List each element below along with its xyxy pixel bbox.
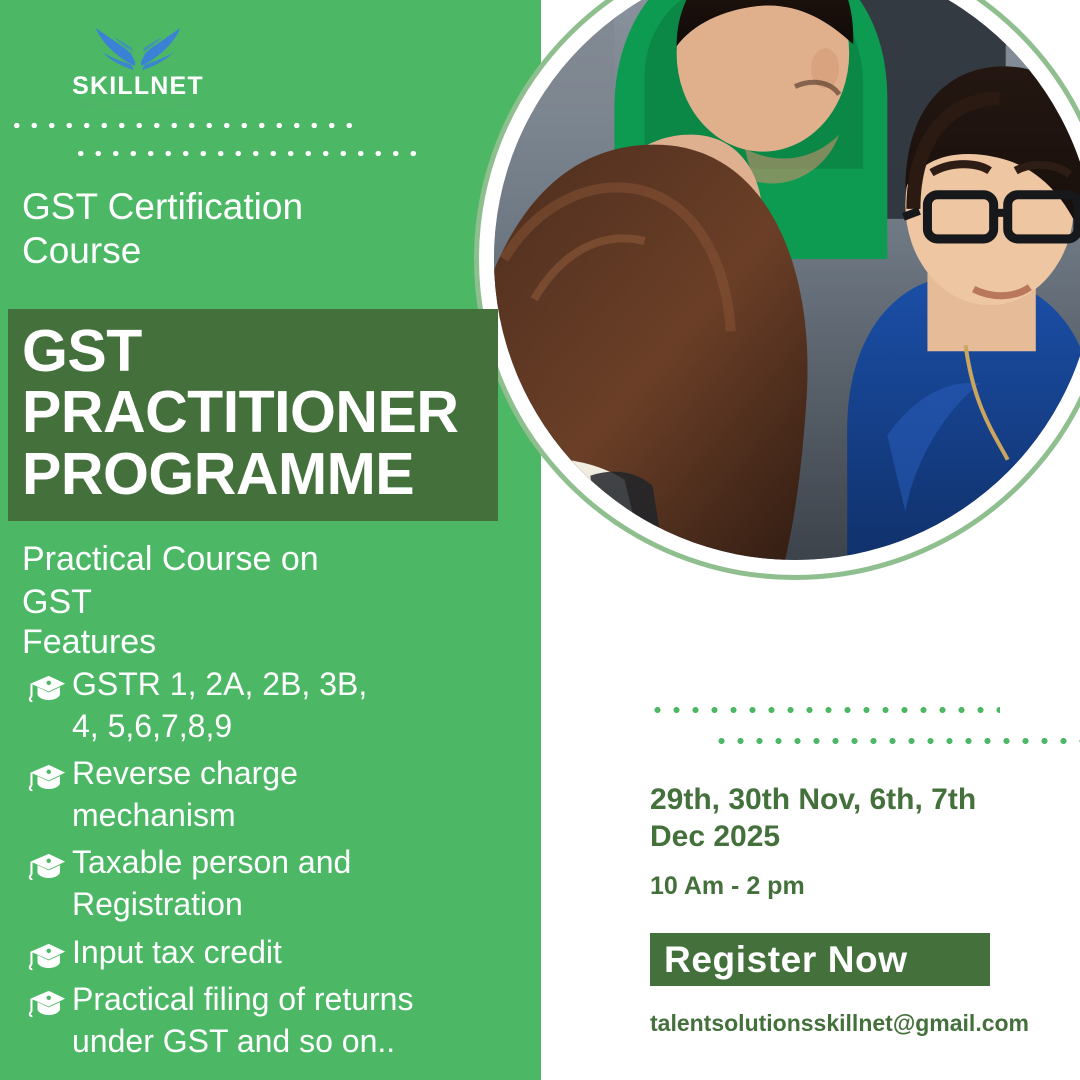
feature-text: Practical filing of returns under GST an… xyxy=(72,979,413,1062)
register-now-button[interactable]: Register Now xyxy=(650,933,990,986)
headline-block: GST PRACTITIONER PROGRAMME xyxy=(8,309,498,521)
headline-line-1: GST xyxy=(8,321,498,382)
three-people-studying-photo xyxy=(494,0,1080,560)
list-item: GSTR 1, 2A, 2B, 3B, 4, 5,6,7,8,9 xyxy=(28,664,528,747)
headline-line-3: PROGRAMME xyxy=(8,444,498,505)
list-item: Practical filing of returns under GST an… xyxy=(28,979,528,1062)
contact-email[interactable]: talentsolutionsskillnet@gmail.com xyxy=(650,1010,1029,1037)
graduation-cap-icon xyxy=(28,851,66,881)
graduation-cap-icon xyxy=(28,988,66,1018)
list-item: Reverse charge mechanism xyxy=(28,753,528,836)
dotted-divider-top-1 xyxy=(8,122,360,129)
feature-text: Taxable person and Registration xyxy=(72,842,351,925)
course-kicker: GST Certification Course xyxy=(22,185,482,272)
brand-logo: SKILLNET WE CREATE FUTURE xyxy=(48,26,228,110)
brand-tagline: WE CREATE FUTURE xyxy=(48,102,228,110)
graduation-cap-icon xyxy=(28,762,66,792)
photo-circle-inner xyxy=(494,0,1080,560)
gst-course-flyer: SKILLNET WE CREATE FUTURE GST Certificat… xyxy=(0,0,1080,1080)
feature-text: Input tax credit xyxy=(72,932,282,974)
feature-text: GSTR 1, 2A, 2B, 3B, 4, 5,6,7,8,9 xyxy=(72,664,367,747)
dotted-divider-top-2 xyxy=(72,150,424,157)
graduation-cap-icon xyxy=(28,941,66,971)
course-time: 10 Am - 2 pm xyxy=(650,872,805,901)
brand-name: SKILLNET xyxy=(48,74,228,99)
photo-circle-frame xyxy=(474,0,1080,580)
list-item: Input tax credit xyxy=(28,932,528,974)
dotted-divider-right-1 xyxy=(648,706,1000,714)
features-list: GSTR 1, 2A, 2B, 3B, 4, 5,6,7,8,9 Reverse… xyxy=(28,664,528,1068)
list-item: Taxable person and Registration xyxy=(28,842,528,925)
wings-icon xyxy=(90,26,186,72)
register-now-label: Register Now xyxy=(664,941,908,978)
course-subtitle: Practical Course on GST xyxy=(22,538,492,623)
feature-text: Reverse charge mechanism xyxy=(72,753,298,836)
course-dates: 29th, 30th Nov, 6th, 7th Dec 2025 xyxy=(650,782,1050,855)
headline-line-2: PRACTITIONER xyxy=(8,382,498,443)
features-label: Features xyxy=(22,622,156,663)
graduation-cap-icon xyxy=(28,673,66,703)
dotted-divider-right-2 xyxy=(712,737,1080,745)
